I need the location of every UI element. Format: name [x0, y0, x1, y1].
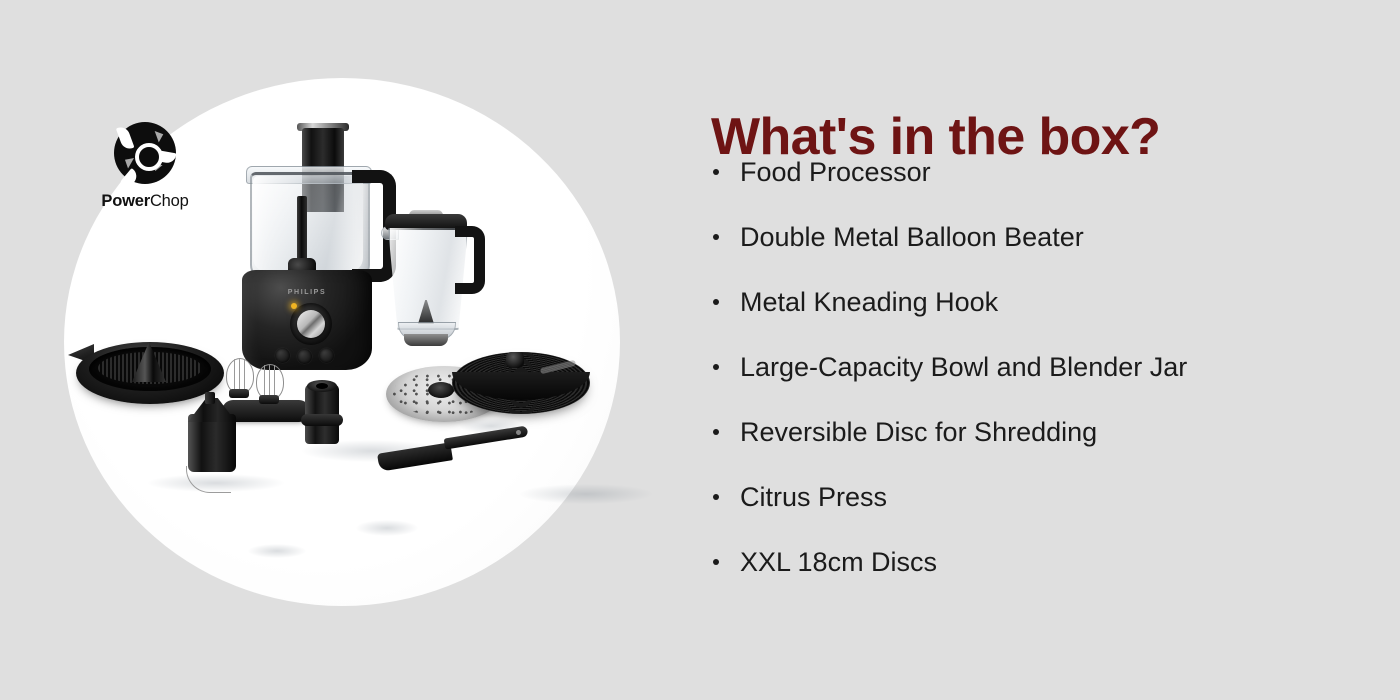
- tool-bottle-body: [188, 414, 236, 472]
- chopping-blade-socket: [316, 383, 328, 389]
- list-item-label: Food Processor: [740, 157, 931, 187]
- list-item: Large-Capacity Bowl and Blender Jar: [700, 347, 1187, 412]
- swirl-arrowhead: [122, 155, 134, 169]
- list-item-label: Reversible Disc for Shredding: [740, 417, 1097, 447]
- list-item-label: Citrus Press: [740, 482, 887, 512]
- bullet-icon: [713, 429, 719, 435]
- list-item-label: Large-Capacity Bowl and Blender Jar: [740, 352, 1187, 382]
- shredding-disc-hub: [428, 382, 454, 398]
- list-item: Food Processor: [700, 152, 1187, 217]
- powerchop-badge: PowerChop: [86, 122, 204, 230]
- reflection-chopping-blade: [356, 520, 418, 536]
- food-processor-button-1: [275, 348, 290, 363]
- powerchop-label: PowerChop: [86, 192, 204, 211]
- box-contents-list: Food Processor Double Metal Balloon Beat…: [700, 152, 1187, 607]
- bullet-icon: [713, 364, 719, 370]
- reflection-discs: [520, 484, 652, 504]
- box-contents-panel: What's in the box? Food Processor Double…: [700, 0, 1400, 700]
- blender-jar-foot: [404, 334, 448, 346]
- powerchop-swirl-icon: [114, 122, 176, 184]
- food-processor-button-2: [297, 349, 312, 364]
- food-processor-speed-dial: [297, 310, 325, 338]
- product-feature-banner: PowerChop PHILIPS: [0, 0, 1400, 700]
- food-processor-indicator-led: [291, 303, 297, 309]
- tool-bottle-neck: [205, 392, 215, 404]
- product-image-panel: PowerChop PHILIPS: [0, 0, 680, 700]
- slicing-disc-knob: [506, 352, 524, 368]
- beater-hub: [259, 395, 279, 404]
- swirl-arrowhead: [155, 129, 166, 143]
- list-item-label: Metal Kneading Hook: [740, 287, 998, 317]
- food-processor-button-3: [319, 348, 334, 363]
- philips-brand-label: PHILIPS: [284, 289, 330, 296]
- list-item: Metal Kneading Hook: [700, 282, 1187, 347]
- list-item-label: XXL 18cm Discs: [740, 547, 937, 577]
- beater-hub: [229, 389, 249, 398]
- swirl-blade: [116, 168, 140, 193]
- powerchop-label-light: Chop: [150, 192, 189, 210]
- bullet-icon: [713, 234, 719, 240]
- blender-jar-handle: [455, 226, 485, 294]
- swirl-blade: [116, 125, 135, 151]
- list-item: Double Metal Balloon Beater: [700, 217, 1187, 282]
- chopping-blade-ring: [301, 414, 343, 426]
- bullet-icon: [713, 299, 719, 305]
- reflection-tool-bottle: [248, 544, 306, 558]
- bullet-icon: [713, 559, 719, 565]
- powerchop-label-bold: Power: [101, 192, 150, 210]
- swirl-center-ring: [135, 143, 163, 171]
- list-item: Reversible Disc for Shredding: [700, 412, 1187, 477]
- list-item: Citrus Press: [700, 477, 1187, 542]
- list-item-label: Double Metal Balloon Beater: [740, 222, 1084, 252]
- bullet-icon: [713, 494, 719, 500]
- bullet-icon: [713, 169, 719, 175]
- list-item: XXL 18cm Discs: [700, 542, 1187, 607]
